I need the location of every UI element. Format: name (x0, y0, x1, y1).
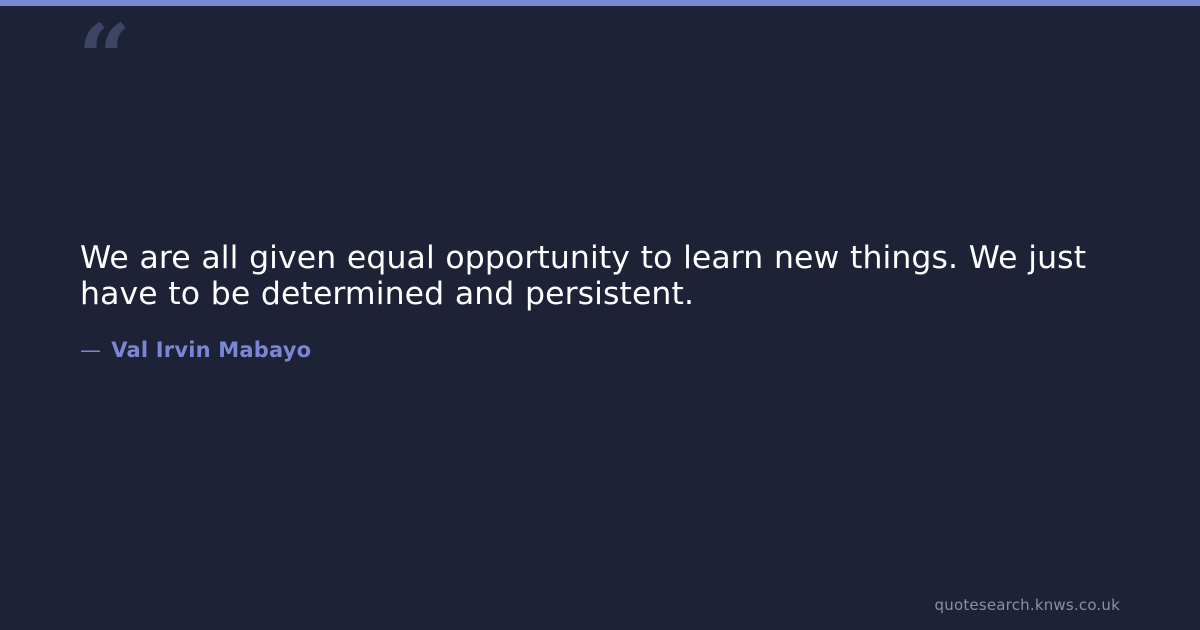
opening-quote-icon: “ (78, 12, 129, 104)
quote-text: We are all given equal opportunity to le… (80, 240, 1110, 312)
quote-card: “ We are all given equal opportunity to … (0, 0, 1200, 630)
author-attribution: — Val Irvin Mabayo (80, 338, 311, 362)
top-accent-bar (0, 0, 1200, 6)
site-watermark: quotesearch.knws.co.uk (935, 596, 1120, 614)
author-name: Val Irvin Mabayo (111, 338, 311, 362)
quote-body: We are all given equal opportunity to le… (80, 240, 1110, 312)
attribution-dash: — (80, 338, 101, 362)
